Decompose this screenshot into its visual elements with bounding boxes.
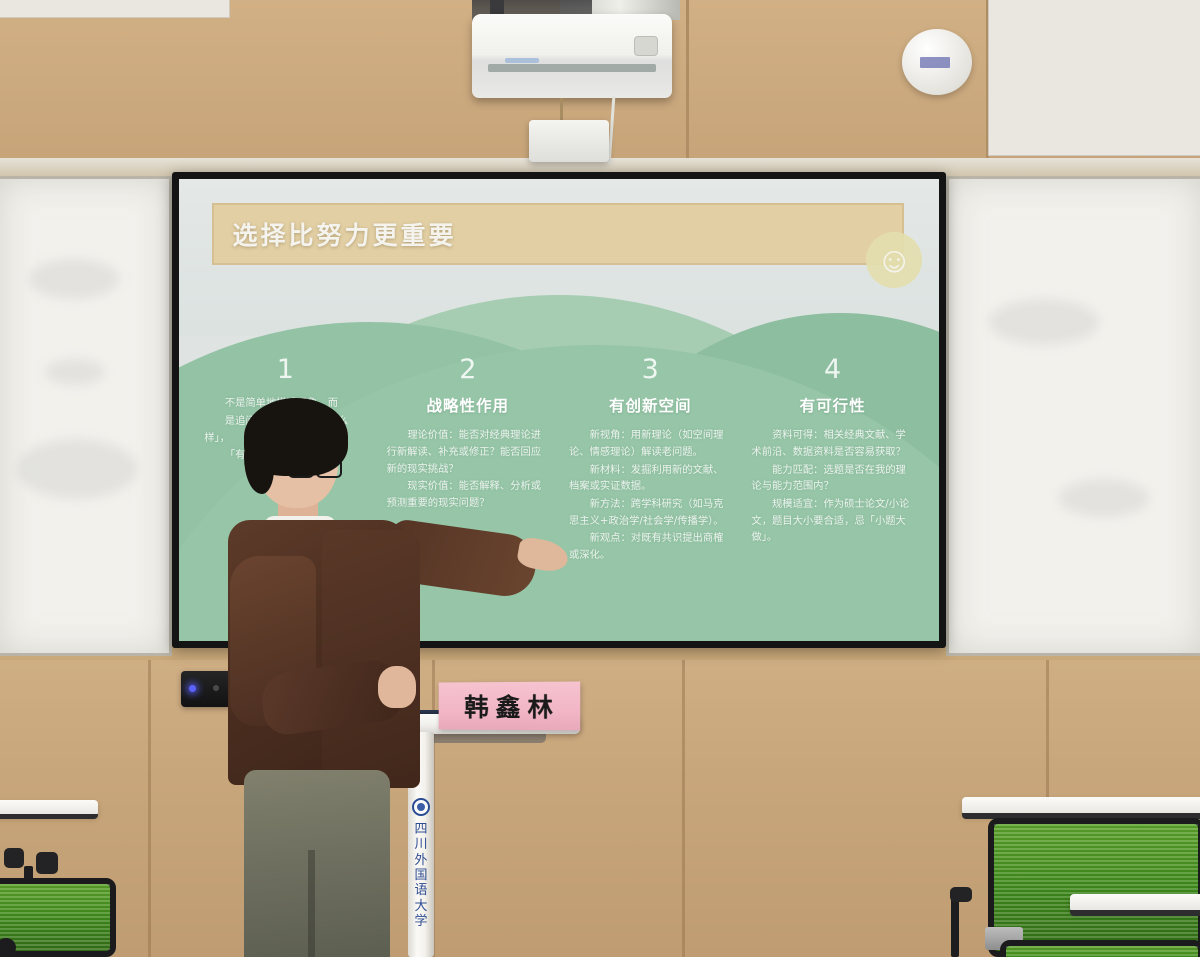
student-desk-left-edge	[0, 814, 98, 819]
whiteboard-left	[0, 176, 172, 656]
projector	[472, 14, 672, 98]
upper-wall-white-panel-right	[988, 0, 1200, 156]
slide-column-4: 4 有可行性 资料可得：相关经典文献、学术前沿、数据资料是否容易获取？ 能力匹配…	[741, 355, 923, 632]
projector-junction-box	[529, 120, 609, 162]
presenter-fist	[378, 666, 416, 708]
chair-mesh-texture	[994, 824, 1198, 951]
column-number: 4	[751, 355, 913, 385]
whiteboard-right	[946, 176, 1200, 656]
presenter-hair-side	[244, 432, 274, 494]
student-chair-left[interactable]	[0, 878, 116, 957]
smiley-glyph: ☺	[876, 242, 913, 278]
projector-vent	[488, 64, 656, 72]
column-heading: 有可行性	[751, 394, 913, 416]
presenter-trouser-seam	[308, 850, 315, 957]
wireless-access-point-icon	[902, 29, 972, 95]
projector-status-leds	[505, 58, 539, 63]
classroom-scene: 选择比努力更重要 ☺ 1 不是简单地描述现象，而 是追问「为什么」和「怎么样」，…	[0, 0, 1200, 957]
ap-label-sticker	[920, 57, 950, 68]
presenter-trousers	[244, 770, 390, 957]
student-desk-right-front-edge	[1070, 910, 1200, 916]
smiley-face-icon: ☺	[866, 232, 922, 288]
chair-armrest-pad	[950, 887, 972, 902]
column-body: 资料可得：相关经典文献、学术前沿、数据资料是否容易获取？ 能力匹配：选题是否在我…	[751, 427, 913, 546]
presenter-jacket-front	[322, 530, 420, 788]
slide-title-banner: 选择比努力更重要	[212, 203, 904, 265]
column-body-line: 能力匹配：选题是否在我的理论与能力范围内？	[751, 462, 913, 495]
chair-armrest-pole	[951, 898, 959, 957]
column-body-line: 资料可得：相关经典文献、学术前沿、数据资料是否容易获取？	[751, 427, 913, 460]
student-chair-right-lower[interactable]	[1000, 940, 1200, 957]
power-led-icon	[189, 685, 196, 692]
projector-lens	[634, 36, 658, 56]
upper-wall-white-panel-left	[0, 0, 230, 18]
slide-title: 选择比努力更重要	[232, 216, 456, 252]
chair-mesh-texture	[0, 884, 110, 951]
desk-swivel-joint	[36, 852, 58, 874]
chair-mesh-texture	[1006, 946, 1198, 957]
desk-swivel-joint	[4, 848, 24, 868]
presenter	[200, 380, 600, 957]
column-body-line: 规模适宜：作为硕士论文/小论文，题目大小要合适，忌「小题大做」。	[751, 496, 913, 546]
